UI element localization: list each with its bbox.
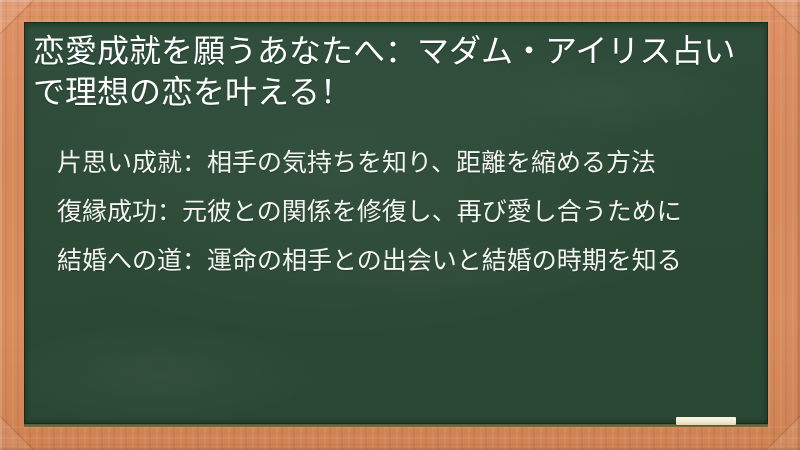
bullet-list: 片思い成就：相手の気持ちを知り、距離を縮める方法 復縁成功：元彼との関係を修復し…: [33, 142, 749, 281]
board-bottom-seam: [24, 424, 768, 427]
chalkboard-surface: 恋愛成就を願うあなたへ：マダム・アイリス占いで理想の恋を叶える！ 片思い成就：相…: [24, 22, 768, 424]
bullet-item: 片思い成就：相手の気持ちを知り、距離を縮める方法: [33, 142, 749, 183]
chalk-stick-icon: [676, 417, 736, 425]
slide-title: 恋愛成就を願うあなたへ：マダム・アイリス占いで理想の恋を叶える！: [33, 31, 749, 113]
bullet-item: 復縁成功：元彼との関係を修復し、再び愛し合うために: [33, 191, 749, 232]
chalkboard-slide: 恋愛成就を願うあなたへ：マダム・アイリス占いで理想の恋を叶える！ 片思い成就：相…: [0, 0, 800, 450]
bullet-item: 結婚への道：運命の相手との出会いと結婚の時期を知る: [33, 240, 749, 281]
